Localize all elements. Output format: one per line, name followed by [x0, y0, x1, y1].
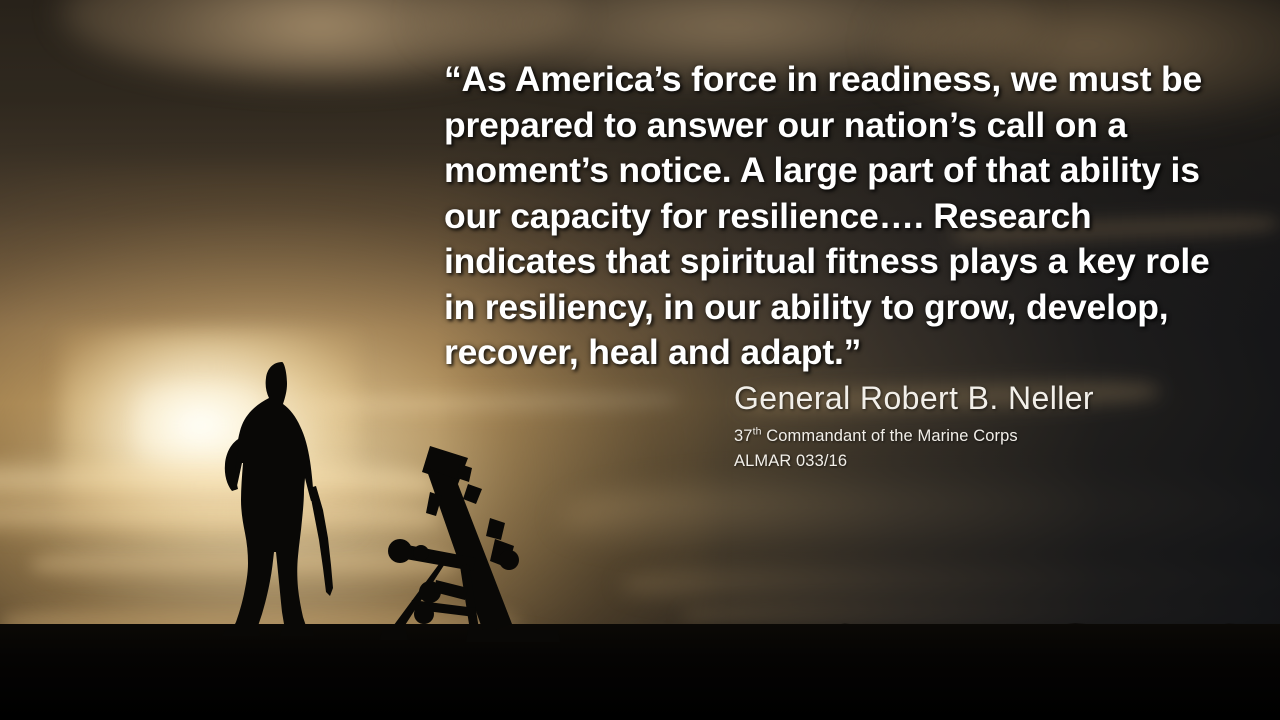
attribution-rank: 37th Commandant of the Marine Corps — [734, 424, 1254, 449]
quote-text: “As America’s force in readiness, we mus… — [444, 57, 1234, 376]
attribution-reference: ALMAR 033/16 — [734, 449, 1254, 474]
marine-silhouette — [200, 360, 360, 640]
attribution-rank-rest: Commandant of the Marine Corps — [762, 427, 1018, 445]
quote-slide: “As America’s force in readiness, we mus… — [0, 0, 1280, 720]
mortar-silhouette — [372, 440, 582, 645]
attribution-rank-ordinal-suffix: th — [753, 426, 762, 438]
attribution-name: General Robert B. Neller — [734, 378, 1254, 418]
ground — [0, 624, 1280, 720]
attribution-block: General Robert B. Neller 37th Commandant… — [734, 378, 1254, 474]
attribution-rank-ordinal: 37 — [734, 427, 753, 445]
